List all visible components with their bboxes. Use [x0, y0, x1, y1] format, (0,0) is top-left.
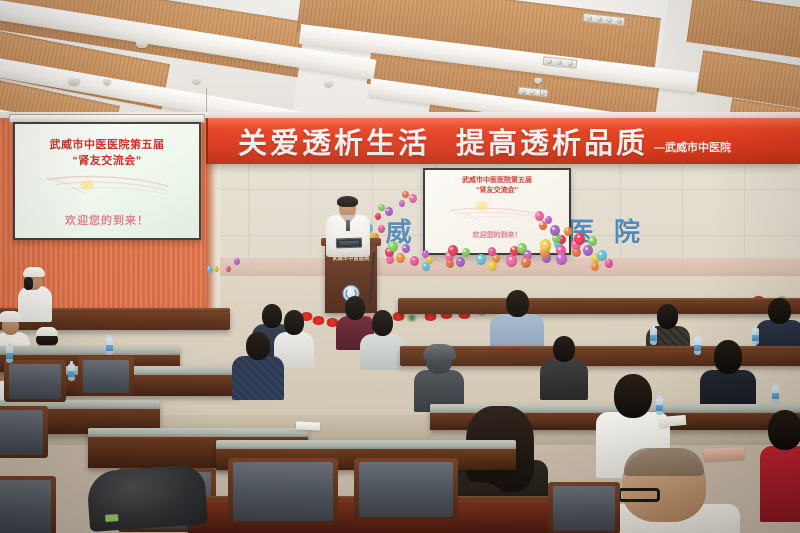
bag-tag: [105, 514, 118, 522]
desk-rail: [398, 298, 800, 302]
slide-subtitle: “肾友交流会”: [425, 185, 569, 195]
nurse-cap: [23, 267, 45, 277]
balloon: [375, 213, 381, 220]
bottle-label: [106, 345, 113, 351]
slide-title: 武威市中医医院第五届: [425, 175, 569, 185]
attendee: [232, 332, 284, 396]
attendee-with-cap: [414, 344, 464, 408]
banner-slogan-part2: 提高透析品质: [456, 120, 648, 162]
desk-surface: [0, 346, 180, 355]
balloon: [556, 253, 567, 265]
balloon: [378, 225, 385, 233]
balloon: [422, 250, 429, 258]
water-bottle: [772, 386, 779, 403]
hair: [624, 448, 704, 476]
ceiling-speaker-icon: [192, 78, 201, 84]
auditorium-seat: [0, 406, 48, 458]
balloon: [517, 243, 527, 254]
head: [768, 298, 791, 324]
seat-cushion: [359, 462, 453, 517]
glasses-icon: [618, 488, 660, 502]
auditorium-seat: [228, 458, 338, 524]
balloon: [462, 248, 470, 257]
wall-char: 院: [614, 212, 640, 249]
banner-slogan-part1: 关爱透析生活: [238, 120, 430, 162]
bottle-label: [752, 335, 759, 341]
desk-surface: [216, 440, 516, 449]
attendee: [540, 336, 588, 396]
balloon: [409, 194, 417, 203]
head: [246, 332, 270, 360]
head: [614, 374, 652, 418]
laptop: [336, 238, 362, 249]
bottle-label: [6, 353, 13, 359]
banner-credit: —武威市中医院: [654, 139, 731, 155]
glasses-icon: [340, 206, 355, 210]
seat-cushion: [553, 486, 615, 531]
bottle-label: [68, 371, 75, 377]
water-bottle: [656, 398, 663, 415]
hanging-wire: [540, 84, 541, 98]
water-bottle: [650, 328, 657, 345]
auditorium-seat: [0, 476, 56, 533]
hanging-wire: [206, 88, 207, 114]
seat-cushion: [233, 462, 333, 521]
balloon: [540, 239, 551, 251]
seat-cushion: [0, 480, 51, 533]
slide-ribbon-graphic: [41, 172, 173, 202]
ceiling-speaker-icon: [136, 41, 148, 48]
torso: [232, 356, 284, 400]
slide-glow-accent: [474, 200, 490, 212]
balloon: [488, 261, 497, 271]
auditorium-seat: [78, 356, 134, 396]
balloon: [535, 211, 544, 221]
auditorium-seat: [354, 458, 458, 520]
ceiling-speaker-icon: [68, 78, 80, 85]
head: [553, 336, 575, 362]
balloon: [234, 258, 240, 265]
nurse-cap: [36, 327, 58, 336]
slide-welcome-text: 欢迎您的到来！: [15, 212, 199, 228]
bottle-label: [772, 393, 779, 399]
head: [657, 304, 678, 329]
laptop-screen: [339, 240, 359, 246]
water-bottle: [6, 346, 13, 363]
head: [284, 310, 304, 335]
auditorium-seat: [548, 482, 620, 533]
slide-ribbon-graphic: [445, 205, 549, 227]
balloon: [385, 207, 393, 216]
seat-cushion: [0, 410, 43, 455]
handout-paper: [704, 447, 745, 461]
water-bottle: [752, 328, 759, 345]
torso: [540, 360, 588, 400]
balloon: [402, 244, 410, 253]
balloon: [207, 266, 213, 273]
auditorium-seat: [4, 360, 66, 402]
attendee: [360, 310, 404, 368]
balloon: [605, 259, 613, 268]
nurse-cap: [0, 311, 22, 322]
seat-cushion: [83, 360, 129, 393]
cap-icon: [423, 344, 456, 360]
balloon: [399, 200, 405, 207]
water-bottle: [106, 338, 113, 355]
torso: [360, 334, 404, 370]
seat-cushion: [9, 364, 61, 399]
bottle-label: [694, 345, 701, 351]
balloon: [564, 227, 572, 236]
red-jacket: [760, 446, 800, 522]
water-bottle: [68, 364, 75, 381]
desk-row: [398, 298, 800, 314]
head: [372, 310, 393, 336]
event-banner: 关爱透析生活 提高透析品质 —武威市中医院: [208, 118, 800, 164]
slide-title: 武威市中医医院第五届: [15, 136, 199, 152]
head: [506, 290, 529, 317]
balloon: [591, 262, 599, 271]
handout-paper: [296, 421, 320, 430]
slide-subtitle: “肾友交流会”: [15, 152, 199, 168]
speaker-tie: [346, 220, 350, 231]
balloon: [574, 233, 585, 245]
desk-surface: [88, 428, 308, 437]
attendee: [700, 340, 756, 410]
balloon: [539, 221, 547, 230]
attendee: [490, 290, 544, 352]
head: [768, 410, 800, 450]
conference-hall-photo: 武 威 市 中 医 医 院 武威市中医医院第五届 “肾友交流会” 欢迎您的到来！…: [0, 0, 800, 533]
backpack: [86, 464, 208, 532]
water-bottle: [694, 338, 701, 355]
slide-glow-accent: [79, 179, 95, 191]
hair: [714, 340, 742, 374]
balloon: [214, 266, 219, 272]
attendee-child: [760, 410, 800, 520]
attendee-nurse: [18, 268, 52, 320]
bottle-label: [656, 405, 663, 411]
balloon: [226, 266, 231, 272]
balloon: [476, 254, 486, 265]
projection-screen-left: 武威市中医医院第五届 “肾友交流会” 欢迎您的到来！: [13, 122, 201, 240]
bottle-label: [650, 335, 657, 341]
balloon: [550, 225, 560, 236]
hair: [24, 277, 33, 290]
audience-seating: [0, 300, 800, 533]
ceiling: [0, 0, 800, 118]
